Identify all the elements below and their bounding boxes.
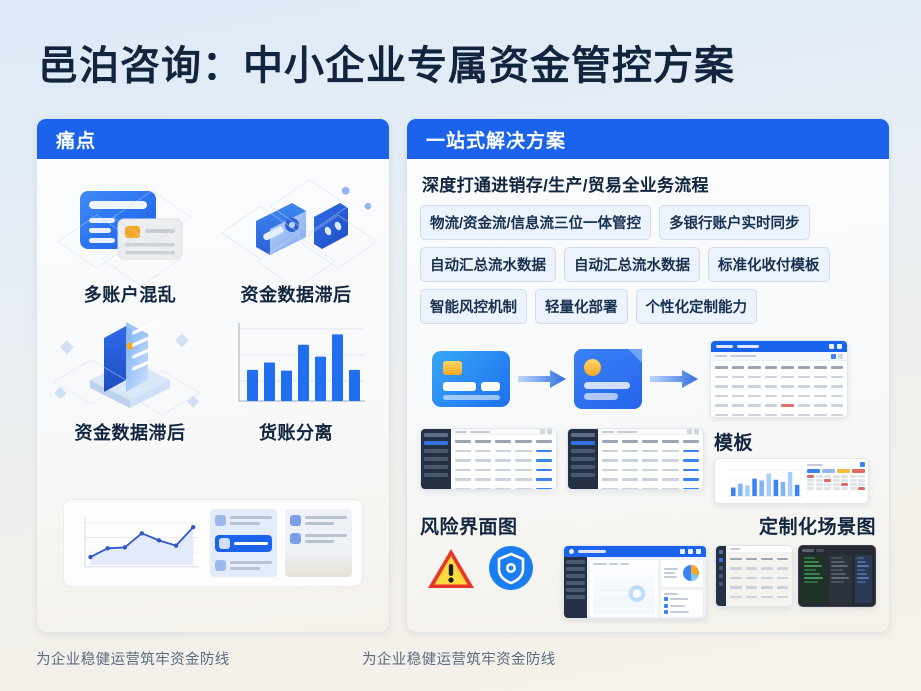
calendar-cell: [816, 475, 823, 478]
sidebar-mock: [564, 557, 587, 619]
sidebar-mock: [568, 429, 598, 489]
calendar-cell: [807, 475, 814, 478]
calendar-cell: [850, 479, 857, 482]
table-row: [602, 448, 699, 455]
feature-chip[interactable]: 多银行账户实时同步: [659, 205, 810, 240]
rank-list-mock: [661, 590, 703, 618]
template-label: 模板: [714, 428, 753, 455]
terminal-grey-panel: [829, 555, 852, 603]
table-row: [455, 448, 552, 455]
pain-item-3: 货账分离: [213, 311, 379, 445]
shield-badge-icon: [488, 545, 534, 591]
table-row: [730, 594, 788, 601]
table-row: [455, 476, 552, 483]
pain-points-grid: 多账户混乱: [37, 159, 389, 445]
arrow-right-icon: [648, 368, 700, 390]
table-row: [455, 486, 552, 491]
iso-grid-backdrop: [47, 311, 213, 426]
cards-stack-icon: [47, 173, 213, 277]
feature-chip[interactable]: 个性化定制能力: [636, 289, 758, 324]
calendar-cell: [841, 475, 848, 478]
calendar-cell: [841, 487, 848, 490]
card-chip-icon: [443, 361, 462, 375]
terminal-blue-panel: [855, 555, 872, 603]
risk-label: 风险界面图: [420, 512, 570, 539]
calendar-cell: [807, 479, 814, 482]
table-row: [455, 457, 552, 464]
calendar-cell: [858, 475, 865, 478]
list-panel-secondary: [285, 509, 352, 577]
calendar-cell: [807, 487, 814, 490]
pain-points-panel: 痛点: [36, 118, 390, 633]
iso-grid-backdrop: [213, 173, 379, 288]
pain-item-label: 货账分离: [259, 419, 333, 445]
calendar-cell: [824, 483, 831, 486]
table-row: [715, 383, 843, 390]
line-chart-glyph: [74, 509, 202, 577]
calendar-cell: [858, 487, 865, 490]
dark-terminal-mockup: [798, 545, 876, 607]
terminal-green-panel: [802, 555, 826, 603]
calendar-cell: [850, 475, 857, 478]
admin-table-mockup-2: [567, 428, 704, 490]
pain-item-0: 多账户混乱: [47, 173, 213, 307]
table-row: [715, 393, 843, 400]
list-bullet-icon: [215, 560, 226, 571]
list-bullet-icon: [219, 538, 230, 549]
list-item: [215, 560, 272, 571]
bar-chart-icon: [213, 311, 379, 415]
feature-chip[interactable]: 轻量化部署: [535, 289, 628, 324]
table-row: [602, 438, 699, 445]
calendar-cell: [816, 479, 823, 482]
calendar-cell: [816, 483, 823, 486]
table-row: [455, 467, 552, 474]
solution-panel: 一站式解决方案 深度打通进销存/生产/贸易全业务流程 物流/资金流/信息流三位一…: [406, 118, 890, 633]
pain-item-2: 资金数据滞后: [47, 311, 213, 445]
table-row: [715, 374, 843, 381]
analytics-mockup: [714, 458, 869, 504]
coin-icon: [584, 359, 601, 376]
sidebar-mock: [421, 429, 451, 489]
calendar-cell: [841, 483, 848, 486]
calendar-cell: [824, 479, 831, 482]
calendar-cell: [833, 483, 840, 486]
page-title: 邑泊咨询：中小企业专属资金管控方案: [38, 33, 735, 91]
pie-chart-icon: [682, 564, 700, 582]
table-row: [730, 584, 788, 591]
feature-chip[interactable]: 物流/资金流/信息流三位一体管控: [420, 205, 651, 240]
bank-card-icon: [432, 351, 510, 407]
process-flow: [420, 336, 876, 422]
list-bullet-icon: [290, 533, 301, 544]
list-item: [290, 533, 347, 544]
calendar-cell: [841, 479, 848, 482]
wallet-isometric-icon: [213, 173, 379, 277]
list-item-selected[interactable]: [215, 535, 272, 552]
footer-right: 为企业稳健运营筑牢资金防线: [362, 648, 556, 669]
table-row: [602, 476, 699, 483]
table-row: [730, 575, 788, 582]
calendar-cell: [807, 483, 814, 486]
calendar-cell: [816, 487, 823, 490]
solution-subtitle: 深度打通进销存/生产/贸易全业务流程: [422, 171, 876, 196]
calendar-cell: [833, 479, 840, 482]
table-row: [602, 467, 699, 474]
calendar-cell: [833, 475, 840, 478]
bar-chart-glyph: [221, 313, 371, 413]
calendar-cell: [833, 487, 840, 490]
donut-chart-mock: [593, 567, 656, 614]
table-row: [730, 565, 788, 572]
calendar-mock: [807, 462, 865, 500]
pain-item-1: 资金数据滞后: [213, 173, 379, 307]
pain-points-header: 痛点: [37, 119, 389, 159]
solution-header: 一站式解决方案: [407, 119, 889, 159]
feature-chip-list: 物流/资金流/信息流三位一体管控多银行账户实时同步自动汇总流水数据自动汇总流水数…: [420, 205, 876, 324]
list-bullet-icon: [290, 515, 301, 526]
chart-card-mock: [590, 560, 659, 617]
feature-chip[interactable]: 标准化收付模板: [708, 247, 830, 282]
calendar-cell: [824, 487, 831, 490]
custom-scene-label: 定制化场景图: [759, 512, 876, 539]
slide-root: 邑泊咨询：中小企业专属资金管控方案 痛点: [0, 0, 921, 691]
list-item: [215, 515, 272, 526]
footer-left: 为企业稳健运营筑牢资金防线: [36, 648, 230, 669]
list-bullet-icon: [215, 515, 226, 526]
dashboard-mockup: [563, 545, 707, 619]
table-row: [715, 364, 843, 371]
table-row: [602, 457, 699, 464]
feature-chip[interactable]: 自动汇总流水数据: [420, 247, 556, 282]
invoice-document-icon: [574, 349, 642, 409]
iso-grid-backdrop: [47, 173, 213, 288]
mock-bar-chart: [718, 462, 804, 502]
table-row: [455, 438, 552, 445]
calendar-cell: [824, 475, 831, 478]
list-item: [290, 515, 347, 526]
calendar-cell: [858, 479, 865, 482]
document-platform-icon: [47, 311, 213, 415]
calendar-cell: [858, 483, 865, 486]
admin-table-mockup-1: [420, 428, 557, 490]
list-panel-primary: [210, 509, 277, 577]
table-row: [730, 556, 788, 563]
arrow-right-icon: [516, 368, 568, 390]
calendar-cell: [850, 487, 857, 490]
table-row: [602, 486, 699, 491]
table-row: [715, 402, 843, 409]
light-table-mockup: [715, 545, 793, 607]
pie-card-mock: [661, 560, 703, 587]
calendar-cell: [850, 483, 857, 486]
summary-combo-card: [63, 499, 363, 587]
table-row: [715, 412, 843, 419]
feature-chip[interactable]: 自动汇总流水数据: [564, 247, 700, 282]
feature-chip[interactable]: 智能风控机制: [420, 289, 527, 324]
data-table-mockup: [710, 340, 848, 418]
warning-triangle-icon: [426, 546, 476, 591]
